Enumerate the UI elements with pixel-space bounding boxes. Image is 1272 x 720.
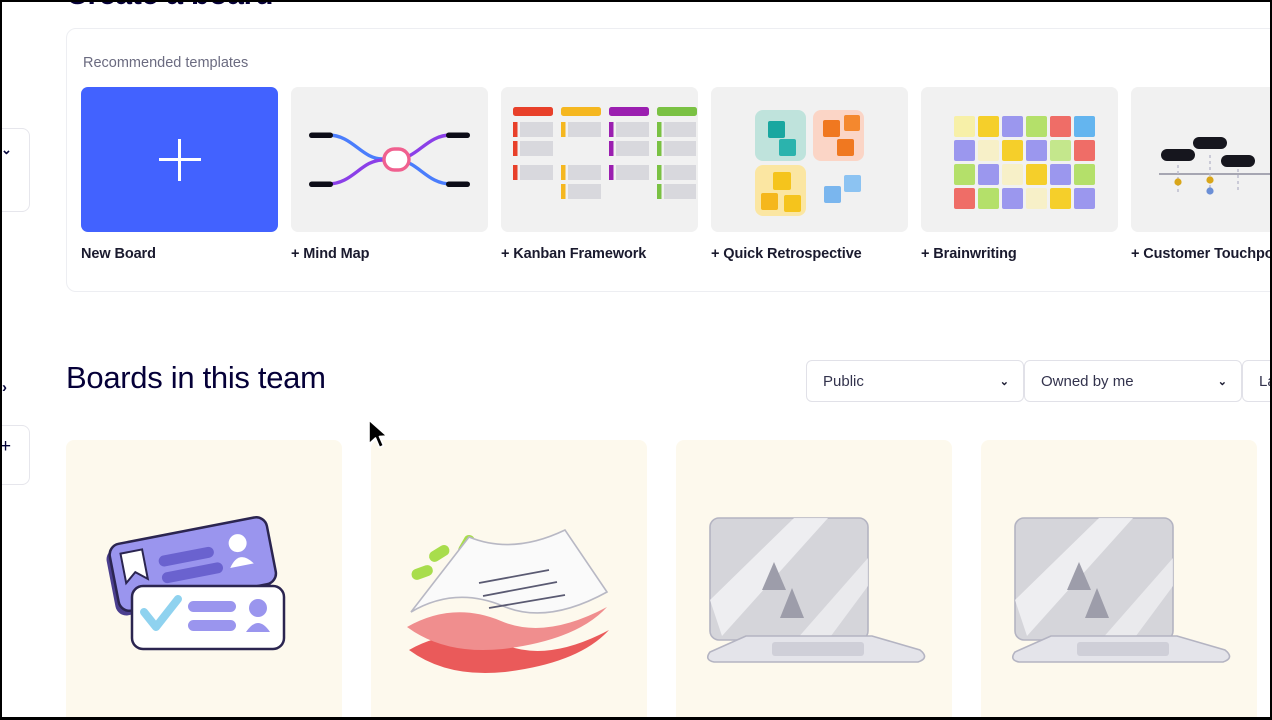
mouse-cursor [366, 418, 392, 452]
recommended-templates-title: Recommended templates [83, 55, 248, 71]
left-sidebar-rail: ⌄ › + [0, 0, 32, 720]
template-card-quick-retrospective[interactable]: + Quick Retrospective [711, 87, 908, 263]
board-card[interactable] [66, 440, 342, 720]
board-card[interactable] [676, 440, 952, 720]
template-card-customer-touchpoint-map[interactable]: + Customer Touchpoint Map [1131, 87, 1272, 263]
sidebar-panel-top[interactable] [0, 128, 30, 212]
template-card-kanban-framework[interactable]: + Kanban Framework [501, 87, 698, 263]
template-thumb-touchpoint[interactable] [1131, 87, 1272, 232]
chevron-right-icon[interactable]: › [2, 380, 7, 395]
plus-icon [159, 139, 201, 181]
template-thumb-brainwriting[interactable] [921, 87, 1118, 232]
boards-section-heading: Boards in this team [66, 360, 326, 396]
template-thumb-mind-map[interactable] [291, 87, 488, 232]
board-filters: Public ⌄ Owned by me ⌄ La ⌄ [806, 360, 1272, 402]
template-card-brainwriting[interactable]: + Brainwriting [921, 87, 1118, 263]
filter-value: Owned by me [1041, 373, 1134, 390]
filter-visibility-dropdown[interactable]: Public ⌄ [806, 360, 1024, 402]
touchpoint-timeline-icon [1131, 87, 1272, 232]
template-label: + Kanban Framework [501, 245, 698, 263]
template-label: New Board [81, 245, 278, 263]
frame-edge-left [0, 0, 2, 720]
template-label: + Brainwriting [921, 245, 1118, 263]
kanban-board-icon [501, 87, 698, 232]
chevron-down-icon: ⌄ [1218, 375, 1227, 388]
laptop-illustration [981, 440, 1257, 720]
templates-strip: New Board + M [81, 87, 1272, 263]
filter-value: Public [823, 373, 864, 390]
recommended-templates-panel: Recommended templates New Board [66, 28, 1272, 292]
chevron-down-icon: ⌄ [1000, 375, 1009, 388]
laptop-illustration [676, 440, 952, 720]
template-label: + Customer Touchpoint Map [1131, 245, 1272, 263]
template-thumb-kanban[interactable] [501, 87, 698, 232]
template-label: + Quick Retrospective [711, 245, 908, 263]
paper-stack-illustration [371, 440, 647, 720]
filter-ownership-dropdown[interactable]: Owned by me ⌄ [1024, 360, 1242, 402]
board-card[interactable] [981, 440, 1257, 720]
template-card-mind-map[interactable]: + Mind Map [291, 87, 488, 263]
board-card[interactable] [371, 440, 647, 720]
filter-sort-dropdown[interactable]: La ⌄ [1242, 360, 1272, 402]
mind-map-diagram-icon [291, 87, 488, 232]
template-thumb-new-board[interactable] [81, 87, 278, 232]
template-card-new-board[interactable]: New Board [81, 87, 278, 263]
template-label: + Mind Map [291, 245, 488, 263]
template-thumb-retrospective[interactable] [711, 87, 908, 232]
boards-grid [66, 440, 1272, 720]
purple-cards-illustration [66, 440, 342, 720]
chevron-down-icon[interactable]: ⌄ [1, 143, 12, 156]
brainwriting-grid-icon [921, 87, 1118, 232]
app-root: ⌄ › + Create a board Recommended templat… [0, 0, 1272, 720]
frame-edge-top [0, 0, 1272, 2]
retrospective-quadrants-icon [711, 87, 908, 232]
